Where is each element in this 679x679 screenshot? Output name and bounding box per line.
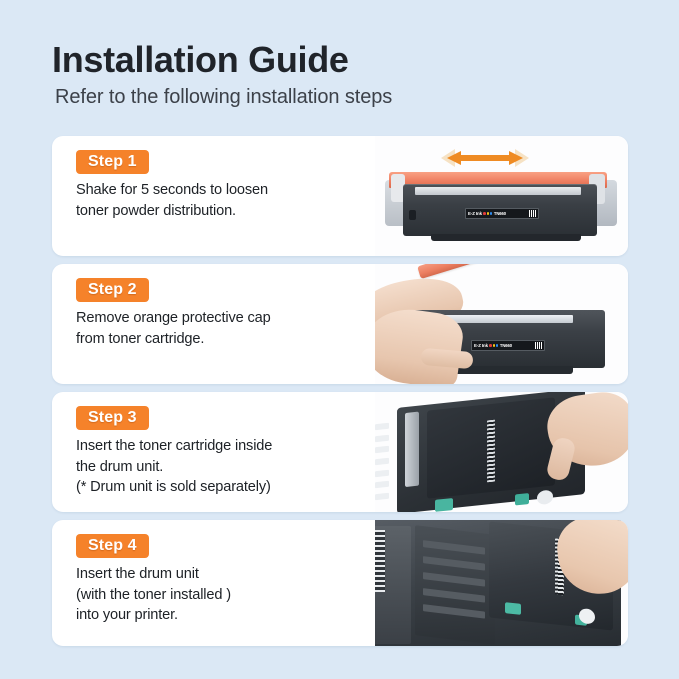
step-4-badge: Step 4 [76,534,149,558]
label-qr-icon [535,342,542,349]
step-1-badge: Step 1 [76,150,149,174]
step-1-description: Shake for 5 seconds to loosen toner powd… [76,180,365,221]
step-card-3: Step 3 Insert the toner cartridge inside… [52,392,628,512]
cartridge-label-sticker: E-Z Ink TN660 [465,208,539,219]
step-3-badge: Step 3 [76,406,149,430]
step-1-line-1: Shake for 5 seconds to loosen [76,180,365,200]
label-brand-text: E-Z Ink [468,211,482,216]
step-3-line-2: the drum unit. [76,457,365,477]
step-1-text-block: Step 1 Shake for 5 seconds to loosen ton… [52,136,375,256]
step-2-photo: E-Z Ink TN660 [375,264,628,384]
teal-latch-left [505,602,521,615]
page-subtitle: Refer to the following installation step… [55,86,652,109]
step-card-2: Step 2 Remove orange protective cap from… [52,264,628,384]
step-3-description: Insert the toner cartridge inside the dr… [76,436,365,497]
step-2-line-2: from toner cartridge. [76,329,365,349]
step-2-description: Remove orange protective cap from toner … [76,308,365,349]
shake-arrow-icon [439,148,531,168]
step-card-1: Step 1 Shake for 5 seconds to loosen ton… [52,136,628,256]
step-3-photo [375,392,628,512]
toner-cartridge-in-drum [427,397,555,498]
step-3-line-1: Insert the toner cartridge inside [76,436,365,456]
cartridge-label-sticker: E-Z Ink TN660 [471,340,545,351]
cartridge-body: E-Z Ink TN660 [403,184,597,236]
drum-roller [537,489,553,505]
label-qr-icon [529,210,536,217]
step-4-line-1: Insert the drum unit [76,564,365,584]
step-4-line-3: into your printer. [76,605,365,625]
step-3-line-3: (* Drum unit is sold separately) [76,477,365,497]
guide-header: Installation Guide Refer to the followin… [52,40,652,109]
printer-inner-tray [415,525,495,645]
label-color-dots-icon [483,212,492,215]
lifted-orange-cap [417,264,574,279]
cartridge-bottom-lip [431,234,581,241]
barcode-icon [487,420,495,483]
teal-latch-left [435,498,453,512]
step-4-line-2: (with the toner installed ) [76,585,365,605]
printer-left-panel [375,526,411,644]
teal-latch-right [515,493,529,505]
step-3-text-block: Step 3 Insert the toner cartridge inside… [52,392,375,512]
cartridge-silver-strip [415,187,581,195]
toner-cartridge-graphic: E-Z Ink TN660 [379,172,623,244]
step-2-badge: Step 2 [76,278,149,302]
page-title: Installation Guide [52,40,652,80]
step-2-text-block: Step 2 Remove orange protective cap from… [52,264,375,384]
label-brand-text: E-Z Ink [474,343,488,348]
steps-list: Step 1 Shake for 5 seconds to loosen ton… [52,136,628,654]
label-model-text: TN660 [500,343,512,348]
drum-silver-rail [405,412,419,487]
drum-side-slots [375,422,393,500]
cartridge-bottom-lip [453,366,573,374]
installation-guide-page: Installation Guide Refer to the followin… [0,0,679,679]
step-1-line-2: toner powder distribution. [76,201,365,221]
label-model-text: TN660 [494,211,506,216]
step-2-line-1: Remove orange protective cap [76,308,365,328]
label-color-dots-icon [489,344,498,347]
step-4-photo [375,520,628,646]
step-4-text-block: Step 4 Insert the drum unit (with the to… [52,520,375,646]
step-card-4: Step 4 Insert the drum unit (with the to… [52,520,628,646]
step-1-photo: E-Z Ink TN660 [375,136,628,256]
printer-vent [375,530,385,592]
cartridge-knob [409,210,416,220]
step-4-description: Insert the drum unit (with the toner ins… [76,564,365,625]
